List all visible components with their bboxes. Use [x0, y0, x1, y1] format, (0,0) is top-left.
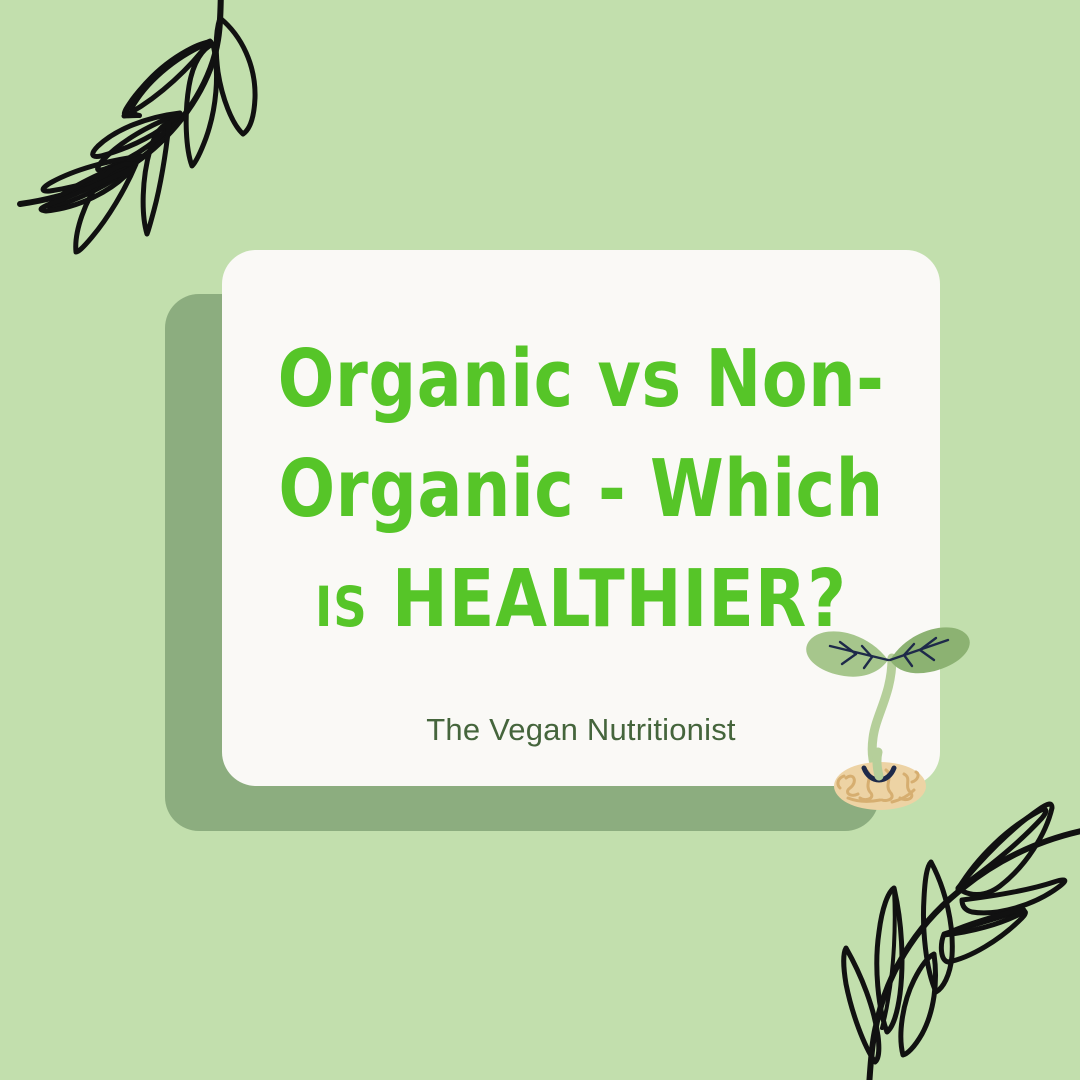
title-line-2: Organic - Which — [244, 434, 919, 544]
card-inner: Organic vs Non- Organic - Which is HEALT… — [222, 250, 940, 786]
content-card: Organic vs Non- Organic - Which is HEALT… — [222, 250, 940, 786]
page-title: Organic vs Non- Organic - Which is HEALT… — [244, 324, 919, 654]
social-post-canvas: Organic vs Non- Organic - Which is HEALT… — [0, 0, 1080, 1080]
title-line-1: Organic vs Non- — [244, 324, 919, 434]
sprout-seed-notch — [864, 768, 894, 780]
byline-author: The Vegan Nutritionist — [222, 712, 940, 748]
sprout-stem-base — [877, 752, 879, 776]
olive-branch-line-art-top-left — [0, 0, 314, 282]
olive-branch-line-art-bottom-right — [790, 792, 1080, 1080]
title-line-3: is HEALTHIER? — [244, 544, 919, 654]
